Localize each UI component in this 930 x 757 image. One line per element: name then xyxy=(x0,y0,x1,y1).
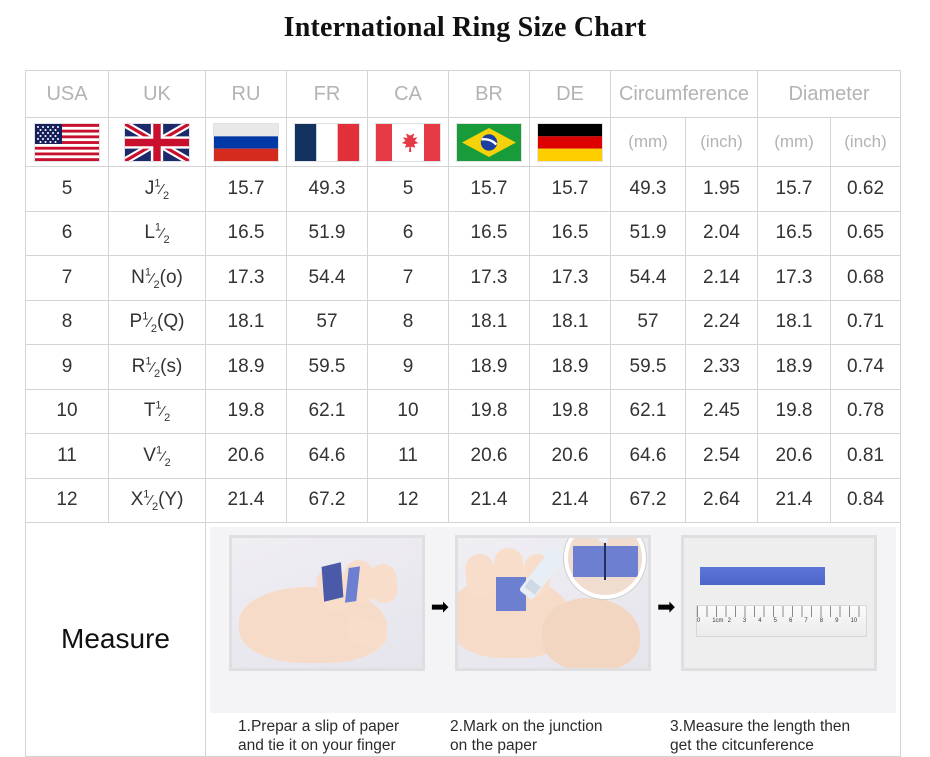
cell-dia_in: 0.74 xyxy=(831,345,901,390)
cell-dia_in: 0.62 xyxy=(831,167,901,212)
step-1-photo xyxy=(229,535,425,671)
cell-ru: 20.6 xyxy=(206,434,287,479)
flag-cell-ru xyxy=(206,118,287,167)
cell-circ_in: 1.95 xyxy=(686,167,758,212)
cell-uk: T1⁄2 xyxy=(109,389,206,434)
cell-circ_mm: 57 xyxy=(611,300,686,345)
cell-fr: 67.2 xyxy=(287,478,368,523)
measure-row: Measure ➡ xyxy=(26,523,901,757)
measure-steps: ➡ xyxy=(206,523,901,757)
cell-circ_mm: 64.6 xyxy=(611,434,686,479)
step-1-caption-line2: and tie it on your finger xyxy=(238,736,446,755)
cell-circ_in: 2.24 xyxy=(686,300,758,345)
cell-fr: 51.9 xyxy=(287,211,368,256)
cell-dia_mm: 21.4 xyxy=(758,478,831,523)
cell-de: 18.1 xyxy=(530,300,611,345)
cell-circ_mm: 54.4 xyxy=(611,256,686,301)
step-3-caption: 3.Measure the length then get the citcun… xyxy=(658,717,878,756)
header-usa: USA xyxy=(26,71,109,118)
unit-diameter-mm: (mm) xyxy=(758,118,831,167)
table-row: 12X1⁄2(Y)21.467.21221.421.467.22.6421.40… xyxy=(26,478,901,523)
cell-de: 16.5 xyxy=(530,211,611,256)
cell-circ_mm: 67.2 xyxy=(611,478,686,523)
cell-ru: 15.7 xyxy=(206,167,287,212)
cell-circ_in: 2.14 xyxy=(686,256,758,301)
step-2-caption-line2: on the paper xyxy=(450,736,658,755)
flag-br-icon xyxy=(457,124,521,161)
step-1-caption: 1.Prepar a slip of paper and tie it on y… xyxy=(228,717,446,756)
cell-ru: 18.1 xyxy=(206,300,287,345)
cell-de: 21.4 xyxy=(530,478,611,523)
cell-ru: 19.8 xyxy=(206,389,287,434)
cell-dia_mm: 16.5 xyxy=(758,211,831,256)
ruler-icon: 01cm2345678910 xyxy=(696,605,867,637)
cell-ru: 18.9 xyxy=(206,345,287,390)
steps-photos: ➡ xyxy=(210,527,896,713)
cell-uk: L1⁄2 xyxy=(109,211,206,256)
cell-de: 15.7 xyxy=(530,167,611,212)
cell-dia_in: 0.81 xyxy=(831,434,901,479)
cell-usa: 5 xyxy=(26,167,109,212)
flag-cell-uk xyxy=(109,118,206,167)
cell-dia_in: 0.68 xyxy=(831,256,901,301)
cell-ca: 10 xyxy=(368,389,449,434)
unit-circumference-inch: (inch) xyxy=(686,118,758,167)
flag-de-icon xyxy=(538,124,602,161)
cell-br: 21.4 xyxy=(449,478,530,523)
cell-br: 17.3 xyxy=(449,256,530,301)
flag-cell-ca xyxy=(368,118,449,167)
cell-circ_mm: 59.5 xyxy=(611,345,686,390)
cell-de: 19.8 xyxy=(530,389,611,434)
cell-fr: 59.5 xyxy=(287,345,368,390)
header-uk: UK xyxy=(109,71,206,118)
cell-dia_mm: 18.1 xyxy=(758,300,831,345)
cell-ca: 8 xyxy=(368,300,449,345)
step-3-photo: 01cm2345678910 xyxy=(681,535,877,671)
arrow-1-icon: ➡ xyxy=(431,596,449,652)
cell-dia_in: 0.65 xyxy=(831,211,901,256)
step-2-caption: 2.Mark on the junction on the paper xyxy=(446,717,658,756)
flag-fr-icon xyxy=(295,124,359,161)
unit-circumference-mm: (mm) xyxy=(611,118,686,167)
cell-dia_in: 0.84 xyxy=(831,478,901,523)
cell-ru: 21.4 xyxy=(206,478,287,523)
cell-fr: 62.1 xyxy=(287,389,368,434)
cell-dia_mm: 20.6 xyxy=(758,434,831,479)
step-3-caption-line2: get the citcunference xyxy=(670,736,878,755)
cell-circ_in: 2.45 xyxy=(686,389,758,434)
step-1-caption-line1: 1.Prepar a slip of paper xyxy=(238,717,446,736)
cell-dia_mm: 15.7 xyxy=(758,167,831,212)
cell-fr: 54.4 xyxy=(287,256,368,301)
cell-usa: 7 xyxy=(26,256,109,301)
cell-br: 18.9 xyxy=(449,345,530,390)
measure-label: Measure xyxy=(26,523,206,757)
ruler-mark: 3 xyxy=(743,618,758,630)
ring-size-table: USA UK RU FR CA BR DE Circumference Diam… xyxy=(25,70,901,757)
cell-circ_in: 2.33 xyxy=(686,345,758,390)
steps-captions: 1.Prepar a slip of paper and tie it on y… xyxy=(206,717,900,756)
table-row: 7N1⁄2(o)17.354.4717.317.354.42.1417.30.6… xyxy=(26,256,901,301)
ruler-mark: 5 xyxy=(774,618,789,630)
table-row: 10T1⁄219.862.11019.819.862.12.4519.80.78 xyxy=(26,389,901,434)
ruler-mark: 10 xyxy=(850,618,865,630)
cell-ca: 12 xyxy=(368,478,449,523)
cell-uk: V1⁄2 xyxy=(109,434,206,479)
cell-dia_in: 0.78 xyxy=(831,389,901,434)
cell-dia_mm: 17.3 xyxy=(758,256,831,301)
step-2-photo xyxy=(455,535,651,671)
cell-usa: 8 xyxy=(26,300,109,345)
cell-uk: X1⁄2(Y) xyxy=(109,478,206,523)
header-br: BR xyxy=(449,71,530,118)
step-2 xyxy=(455,535,651,671)
cell-br: 18.1 xyxy=(449,300,530,345)
flag-cell-de xyxy=(530,118,611,167)
ruler-mark: 9 xyxy=(835,618,850,630)
table-header-names: USA UK RU FR CA BR DE Circumference Diam… xyxy=(26,71,901,118)
cell-circ_mm: 51.9 xyxy=(611,211,686,256)
cell-usa: 6 xyxy=(26,211,109,256)
cell-usa: 11 xyxy=(26,434,109,479)
cell-circ_mm: 62.1 xyxy=(611,389,686,434)
cell-fr: 57 xyxy=(287,300,368,345)
cell-de: 20.6 xyxy=(530,434,611,479)
cell-de: 18.9 xyxy=(530,345,611,390)
flag-ca-icon xyxy=(376,124,440,161)
cell-fr: 64.6 xyxy=(287,434,368,479)
cell-usa: 12 xyxy=(26,478,109,523)
table-row: 6L1⁄216.551.9616.516.551.92.0416.50.65 xyxy=(26,211,901,256)
cell-ca: 5 xyxy=(368,167,449,212)
cell-dia_mm: 18.9 xyxy=(758,345,831,390)
cell-ru: 17.3 xyxy=(206,256,287,301)
step-2-caption-line1: 2.Mark on the junction xyxy=(450,717,658,736)
cell-usa: 10 xyxy=(26,389,109,434)
cell-usa: 9 xyxy=(26,345,109,390)
cell-uk: J1⁄2 xyxy=(109,167,206,212)
ruler-mark: 1cm xyxy=(712,618,727,630)
cell-ca: 9 xyxy=(368,345,449,390)
table-row: 9R1⁄2(s)18.959.5918.918.959.52.3318.90.7… xyxy=(26,345,901,390)
step-3-caption-line1: 3.Measure the length then xyxy=(670,717,878,736)
flag-cell-usa xyxy=(26,118,109,167)
cell-ca: 6 xyxy=(368,211,449,256)
flag-cell-br xyxy=(449,118,530,167)
cell-dia_in: 0.71 xyxy=(831,300,901,345)
flag-ru-icon xyxy=(214,124,278,161)
page-title: International Ring Size Chart xyxy=(0,12,930,44)
cell-fr: 49.3 xyxy=(287,167,368,212)
table-row: 11V1⁄220.664.61120.620.664.62.5420.60.81 xyxy=(26,434,901,479)
cell-ca: 11 xyxy=(368,434,449,479)
table-row: 8P1⁄2(Q)18.157818.118.1572.2418.10.71 xyxy=(26,300,901,345)
header-diameter: Diameter xyxy=(758,71,901,118)
header-circumference: Circumference xyxy=(611,71,758,118)
cell-circ_in: 2.64 xyxy=(686,478,758,523)
header-de: DE xyxy=(530,71,611,118)
step-3: 01cm2345678910 xyxy=(681,535,877,671)
arrow-2-icon: ➡ xyxy=(657,596,675,652)
table-header-flags: (mm) (inch) (mm) (inch) xyxy=(26,118,901,167)
cell-uk: P1⁄2(Q) xyxy=(109,300,206,345)
cell-circ_in: 2.54 xyxy=(686,434,758,479)
flag-usa-icon xyxy=(35,124,99,161)
ruler-mark: 6 xyxy=(789,618,804,630)
cell-uk: N1⁄2(o) xyxy=(109,256,206,301)
cell-br: 16.5 xyxy=(449,211,530,256)
ruler-mark: 0 xyxy=(697,618,712,630)
cell-de: 17.3 xyxy=(530,256,611,301)
flag-cell-fr xyxy=(287,118,368,167)
cell-circ_in: 2.04 xyxy=(686,211,758,256)
cell-ru: 16.5 xyxy=(206,211,287,256)
cell-uk: R1⁄2(s) xyxy=(109,345,206,390)
cell-ca: 7 xyxy=(368,256,449,301)
header-ru: RU xyxy=(206,71,287,118)
ruler-mark: 8 xyxy=(820,618,835,630)
header-fr: FR xyxy=(287,71,368,118)
ruler-mark: 4 xyxy=(758,618,773,630)
flag-uk-icon xyxy=(125,124,189,161)
unit-diameter-inch: (inch) xyxy=(831,118,901,167)
cell-br: 20.6 xyxy=(449,434,530,479)
cell-br: 15.7 xyxy=(449,167,530,212)
ruler-mark: 7 xyxy=(804,618,819,630)
ruler-mark: 2 xyxy=(728,618,743,630)
cell-circ_mm: 49.3 xyxy=(611,167,686,212)
cell-br: 19.8 xyxy=(449,389,530,434)
header-ca: CA xyxy=(368,71,449,118)
step-1 xyxy=(229,535,425,671)
table-row: 5J1⁄215.749.3515.715.749.31.9515.70.62 xyxy=(26,167,901,212)
cell-dia_mm: 19.8 xyxy=(758,389,831,434)
